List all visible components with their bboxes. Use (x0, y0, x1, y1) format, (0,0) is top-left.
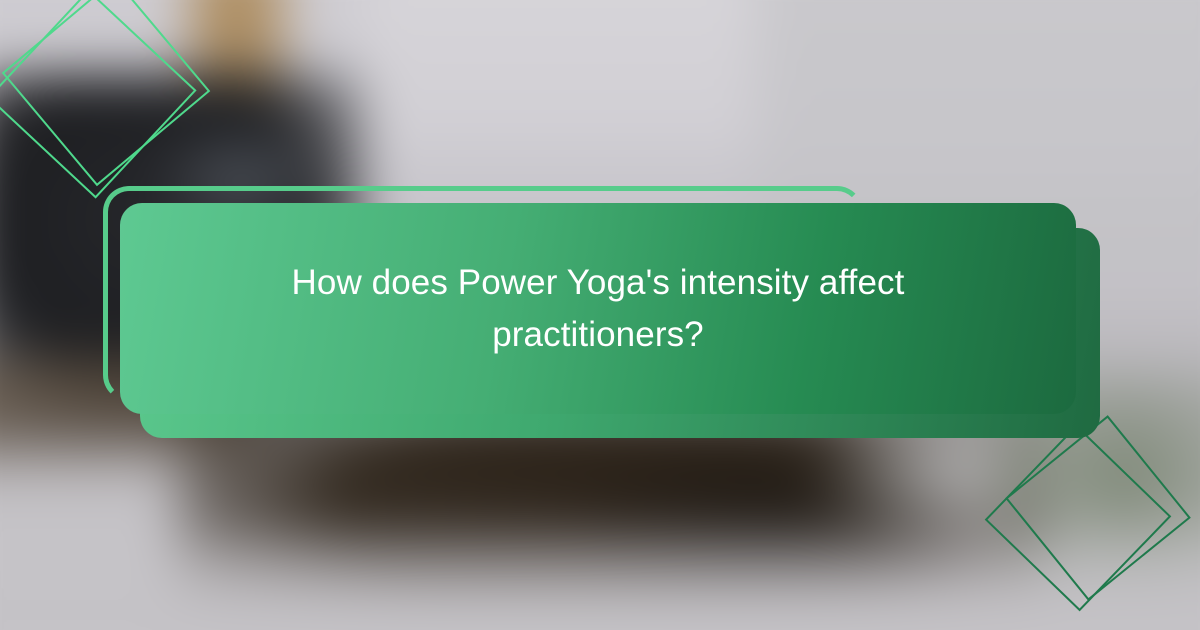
card-stack: How does Power Yoga's intensity affect p… (0, 0, 1200, 630)
question-text: How does Power Yoga's intensity affect p… (248, 257, 948, 361)
question-card: How does Power Yoga's intensity affect p… (120, 203, 1076, 414)
question-card-canvas: How does Power Yoga's intensity affect p… (0, 0, 1200, 630)
